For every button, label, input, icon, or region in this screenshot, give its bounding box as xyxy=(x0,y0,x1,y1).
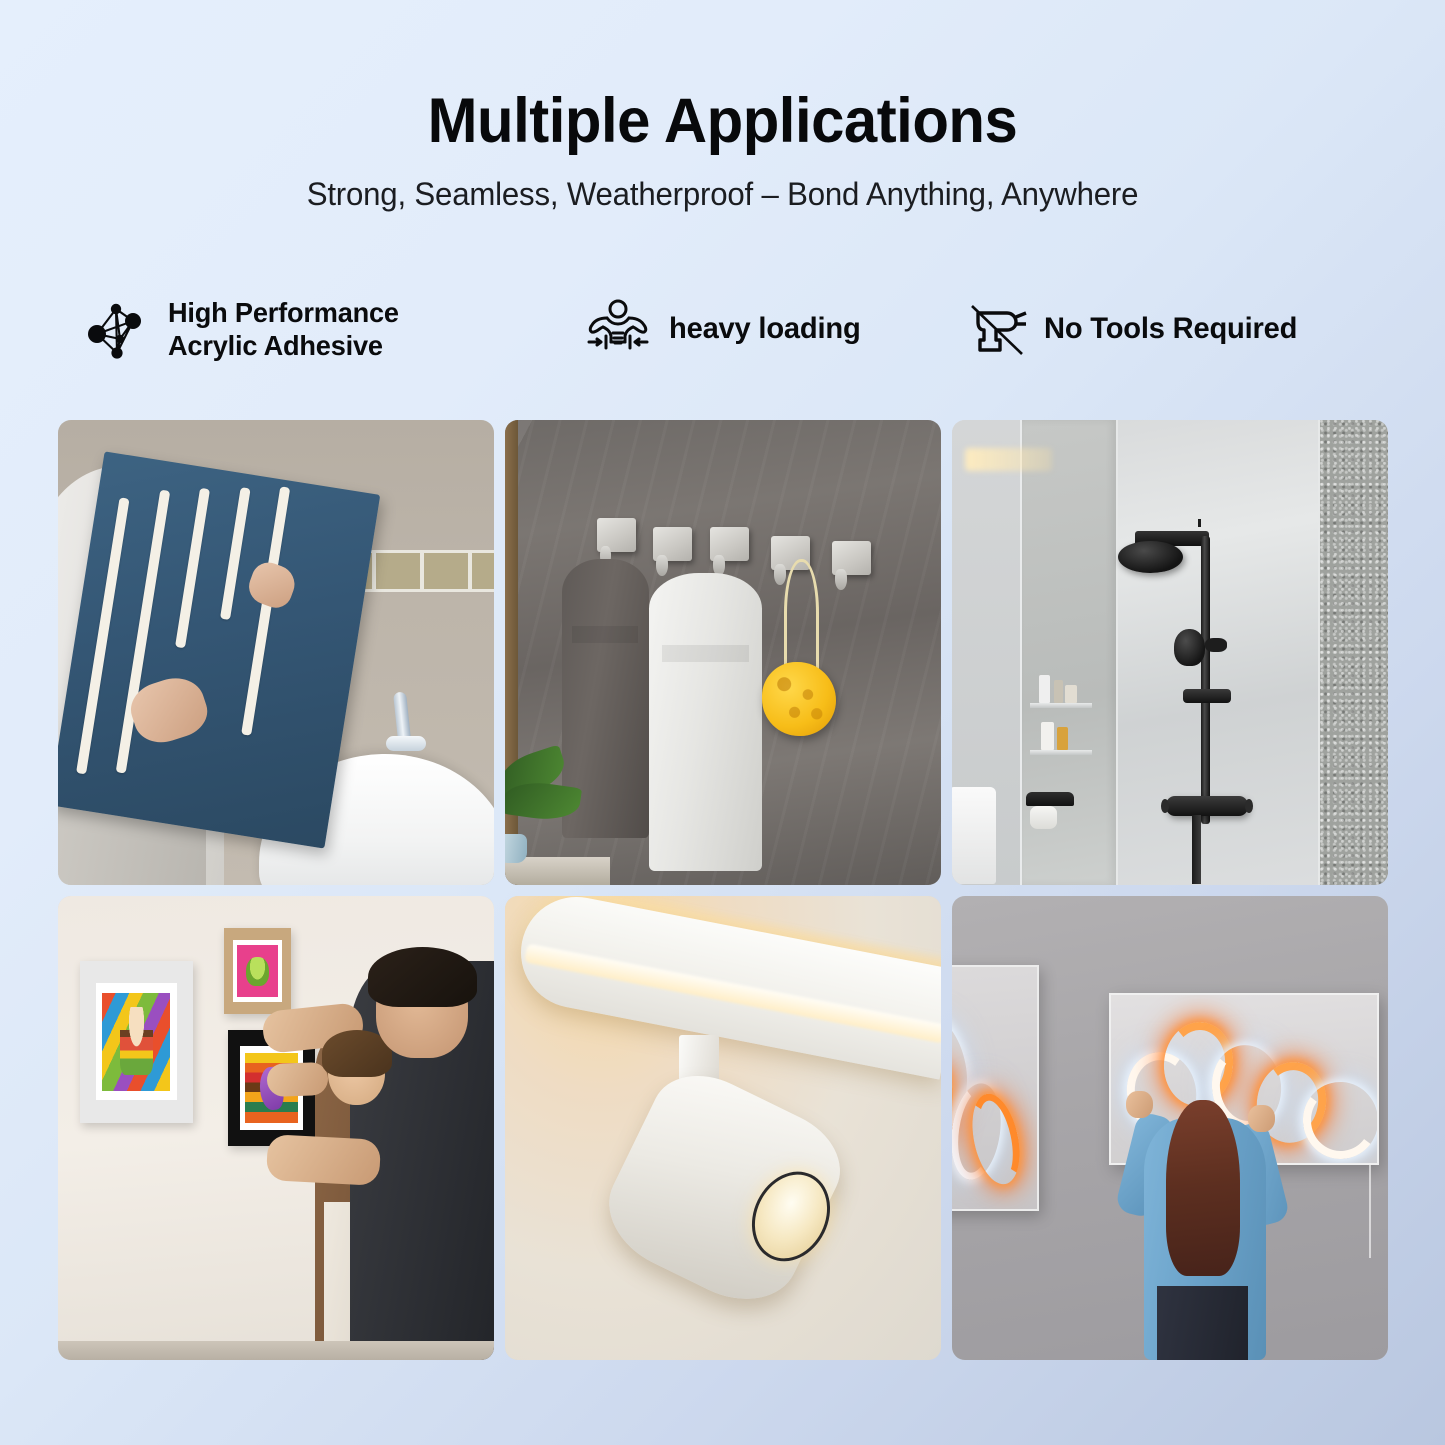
woman-hair xyxy=(1166,1100,1240,1277)
gallery-image-adhesive-wall-hooks[interactable] xyxy=(505,420,941,885)
toiletry-bottle xyxy=(1054,680,1063,703)
gallery-image-marble-shower[interactable] xyxy=(952,420,1388,885)
application-gallery xyxy=(58,420,1388,1360)
shower-mixer-valve xyxy=(1166,796,1249,816)
textured-column xyxy=(1318,420,1388,885)
rain-shower-head xyxy=(1118,541,1183,574)
toiletry-bottle xyxy=(1041,722,1054,750)
toiletry-bottle xyxy=(1039,675,1049,703)
blue-panel-with-adhesive-strips xyxy=(58,451,381,848)
feature-row: High Performance Acrylic Adhesive heavy … xyxy=(58,296,1388,363)
shower-bracket xyxy=(1205,638,1227,652)
adhesive-hook xyxy=(597,518,636,552)
feature-high-performance-acrylic-adhesive: High Performance Acrylic Adhesive xyxy=(58,296,528,363)
feature-label: heavy loading xyxy=(669,311,861,347)
gallery-image-picture-frame-hanging[interactable] xyxy=(58,896,494,1361)
gallery-image-bathroom-panel-install[interactable] xyxy=(58,420,494,885)
feature-heavy-loading: heavy loading xyxy=(528,298,958,360)
floor xyxy=(58,1341,494,1360)
gallery-image-neon-strip-install[interactable] xyxy=(952,896,1388,1361)
toilet xyxy=(952,787,996,885)
adhesive-strip xyxy=(241,486,290,735)
picture-frame-white xyxy=(80,961,193,1124)
feature-label: No Tools Required xyxy=(1044,311,1297,347)
vase xyxy=(505,834,527,863)
shower-hose xyxy=(1192,815,1201,885)
no-drill-icon xyxy=(966,300,1028,358)
feature-no-tools-required: No Tools Required xyxy=(958,300,1388,358)
gallery-image-led-spot-light[interactable] xyxy=(505,896,941,1361)
hand xyxy=(1248,1105,1274,1133)
adhesive-strip xyxy=(220,487,251,619)
sponge-cord xyxy=(784,559,819,670)
kids-artwork-doll xyxy=(102,993,170,1091)
woman-trousers xyxy=(1157,1286,1249,1360)
header: Multiple Applications Strong, Seamless, … xyxy=(0,88,1445,213)
arm xyxy=(266,1134,382,1186)
white-towel xyxy=(649,573,762,870)
adhesive-hook xyxy=(710,527,749,561)
adhesive-hook xyxy=(653,527,692,561)
hand xyxy=(1126,1091,1152,1119)
power-cord xyxy=(1369,1165,1371,1258)
corner-shelf xyxy=(1030,750,1091,755)
corner-shelf xyxy=(1030,703,1091,708)
toilet-paper-holder xyxy=(1026,792,1074,806)
infographic-page: Multiple Applications Strong, Seamless, … xyxy=(0,0,1445,1445)
plant xyxy=(505,745,583,856)
molecule-network-icon xyxy=(86,299,152,359)
toilet-paper-roll xyxy=(1030,806,1056,829)
hand-shower xyxy=(1174,629,1205,666)
faucet xyxy=(390,692,424,754)
cove-light xyxy=(965,448,1052,471)
slider-grip xyxy=(1183,689,1231,703)
toiletry-bottle xyxy=(1057,727,1068,750)
toiletry-bottle xyxy=(1065,685,1076,704)
page-title: Multiple Applications xyxy=(36,88,1409,154)
arm xyxy=(267,1062,329,1097)
strongman-flex-icon xyxy=(583,298,653,360)
man-hair xyxy=(368,947,477,1007)
adhesive-hook xyxy=(832,541,871,575)
shower-riser xyxy=(1201,536,1211,824)
feature-label: High Performance Acrylic Adhesive xyxy=(168,296,399,363)
kids-artwork-dragon xyxy=(237,945,278,997)
left-wall-panel xyxy=(952,965,1039,1211)
adhesive-strip xyxy=(176,488,211,649)
picture-frame-wood xyxy=(224,928,292,1014)
page-subtitle: Strong, Seamless, Weatherproof – Bond An… xyxy=(29,176,1416,213)
